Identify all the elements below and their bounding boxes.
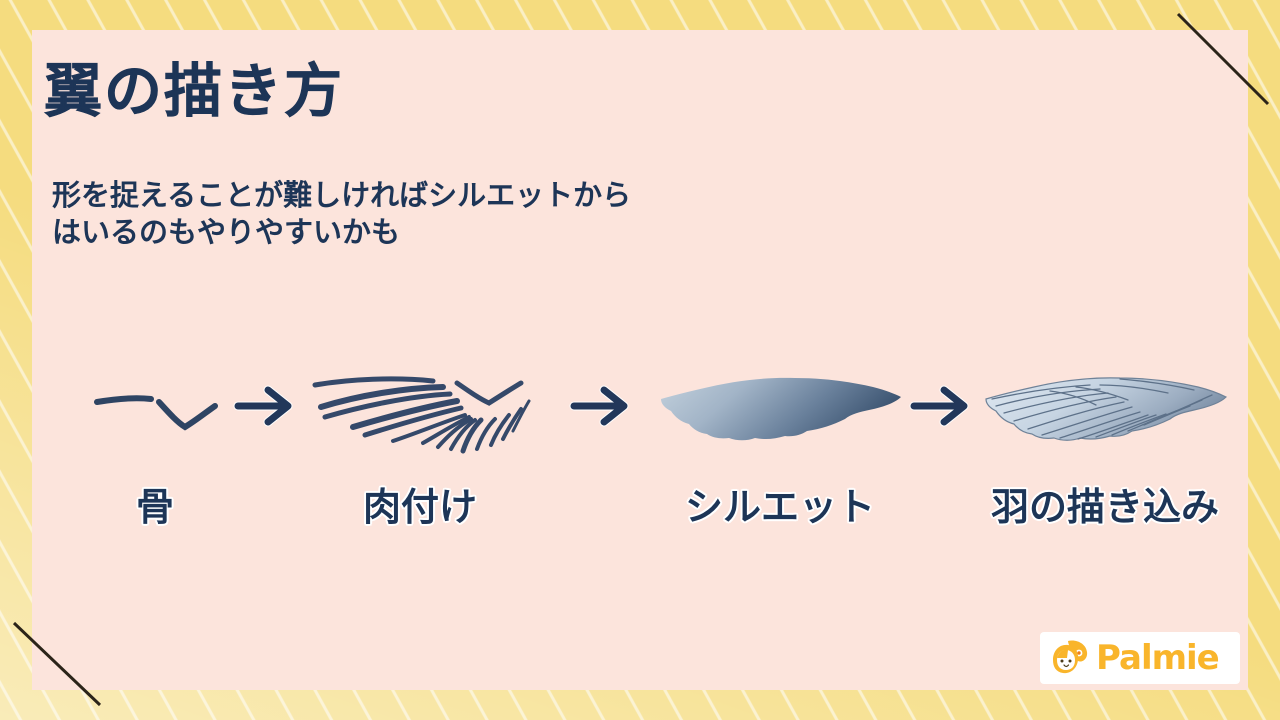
- stage-caption: 羽の描き込み: [960, 476, 1250, 531]
- stage-fleshing-out: 肉付け: [290, 360, 550, 531]
- logo-wordmark: Palmie: [1096, 641, 1219, 675]
- palmie-logo: Palmie: [1040, 632, 1240, 684]
- process-stage-strip: 骨: [40, 360, 1250, 560]
- stage-feather-detail: 羽の描き込み: [960, 360, 1250, 531]
- stage-caption: 肉付け: [290, 476, 550, 531]
- wing-silhouette-art: [640, 360, 920, 470]
- palmie-mascot-icon: [1048, 638, 1090, 678]
- page-title: 翼の描き方: [44, 63, 344, 121]
- arrow-right-icon: [232, 378, 302, 434]
- arrow-right-icon: [568, 378, 638, 434]
- feather-strokes-art: [290, 360, 550, 470]
- detailed-wing-art: [960, 360, 1250, 470]
- stage-caption: シルエット: [640, 476, 920, 531]
- page-subtitle: 形を捉えることが難しければシルエットから はいるのもやりやすいかも: [52, 178, 631, 252]
- arrow-right-icon: [908, 378, 978, 434]
- stage-silhouette: シルエット: [640, 360, 920, 531]
- slide-root: 翼の描き方 形を捉えることが難しければシルエットから はいるのもやりやすいかも …: [0, 0, 1280, 720]
- stage-caption: 骨: [40, 476, 270, 531]
